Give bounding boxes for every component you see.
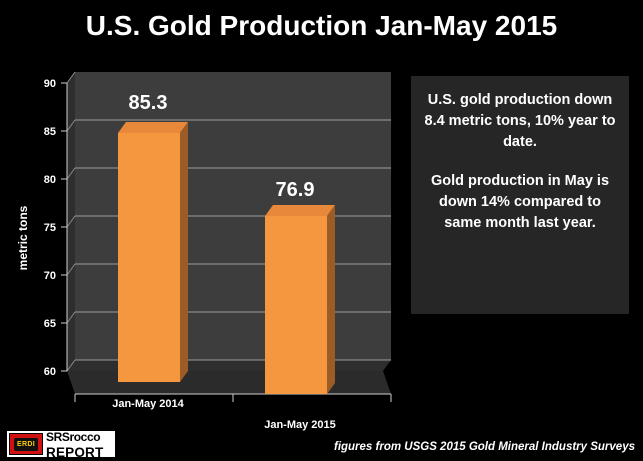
logo-mark-inner-shape: ERDI — [14, 438, 38, 451]
logo-name-line1: SRSrocco — [46, 431, 100, 444]
srsrocco-report-logo[interactable]: ERDI SRSrocco REPORT — [7, 431, 115, 457]
y-tick-label: 80 — [44, 174, 56, 186]
plot-floor-front — [67, 371, 391, 394]
logo-name-line2: REPORT — [46, 446, 103, 457]
annotation-panel: U.S. gold production down 8.4 metric ton… — [411, 76, 629, 314]
source-note: figures from USGS 2015 Gold Mineral Indu… — [334, 441, 635, 453]
bar-top-face — [265, 205, 335, 216]
y-tick-label: 65 — [44, 318, 56, 330]
y-axis — [61, 83, 67, 371]
annotation-spacer — [423, 153, 617, 171]
bar-jan-may-2014[interactable] — [118, 122, 188, 382]
annotation-paragraph-1: U.S. gold production down 8.4 metric ton… — [423, 90, 617, 153]
y-tick-label: 60 — [44, 366, 56, 378]
bar-side-face — [327, 205, 335, 394]
y-tick-labels: 90 85 80 75 70 65 60 — [44, 78, 56, 378]
chart-canvas: U.S. Gold Production Jan-May 2015 — [0, 0, 643, 461]
bar-front-face — [265, 216, 327, 394]
logo-wordmark: SRSrocco REPORT — [46, 431, 103, 457]
bar-value-label-2014: 85.3 — [129, 92, 168, 114]
bar-top-face — [118, 122, 188, 133]
bar-front-face — [118, 133, 180, 382]
y-tick-label: 70 — [44, 270, 56, 282]
logo-mark-text: ERDI — [17, 441, 35, 448]
x-category-label-2015: Jan-May 2015 — [264, 419, 336, 431]
bar-side-face — [180, 122, 188, 382]
y-tick-label: 90 — [44, 78, 56, 90]
y-tick-label: 85 — [44, 126, 56, 138]
x-category-label-2014: Jan-May 2014 — [112, 398, 184, 410]
y-tick-label: 75 — [44, 222, 56, 234]
y-axis-title: metric tons — [16, 205, 30, 270]
bar-value-label-2015: 76.9 — [276, 179, 315, 201]
logo-mark-icon: ERDI — [9, 433, 43, 455]
bar-jan-may-2015[interactable] — [265, 205, 335, 394]
annotation-paragraph-2: Gold production in May is down 14% compa… — [423, 171, 617, 234]
plot-floor — [67, 360, 391, 371]
